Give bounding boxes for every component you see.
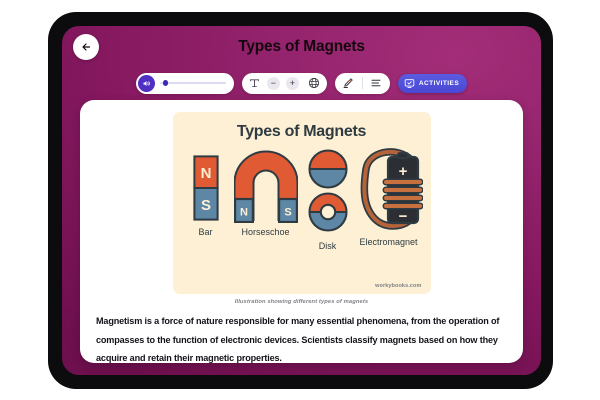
bar-magnet-figure: N S (193, 155, 219, 221)
highlighter-pen-icon[interactable] (342, 77, 355, 90)
app-bar: Types of Magnets (62, 26, 541, 70)
svg-text:N: N (200, 165, 211, 182)
tablet-device-frame: Types of Magnets (48, 12, 553, 389)
svg-text:N: N (240, 207, 248, 219)
volume-slider[interactable] (160, 78, 226, 89)
magnet-figures-row: N S Bar N S Horsescho (173, 141, 431, 265)
lesson-content-card: Types of Magnets N S Bar (80, 100, 523, 363)
text-format-icon[interactable] (248, 76, 261, 90)
svg-text:+: + (398, 163, 407, 180)
annotation-tool-group (335, 73, 390, 94)
figure-caption: Illustration showing different types of … (96, 299, 507, 305)
reader-toolbar: − + (62, 70, 541, 96)
lesson-body-text: Magnetism is a force of nature responsib… (96, 312, 507, 363)
activities-label: ACTIVITIES (419, 80, 459, 87)
decrease-text-size-button[interactable]: − (267, 77, 280, 90)
content-scroll-area[interactable]: Types of Magnets N S Bar (80, 100, 523, 363)
illustration-watermark: workybooks.com (375, 283, 421, 289)
speaker-button[interactable] (138, 75, 155, 92)
svg-text:S: S (284, 207, 291, 219)
magnet-label-disk: Disk (301, 241, 355, 251)
page-title: Types of Magnets (62, 38, 541, 56)
svg-text:−: − (398, 208, 407, 225)
list-lines-icon[interactable] (370, 77, 383, 90)
electromagnet-figure: + − (353, 145, 423, 235)
svg-text:S: S (200, 197, 210, 214)
illustration-title: Types of Magnets (173, 112, 431, 141)
monitor-check-icon (404, 78, 415, 89)
text-control-group: − + (242, 73, 327, 94)
toolbar-divider (362, 77, 363, 89)
magnet-label-horseshoe: Horseschoe (230, 227, 302, 237)
volume-slider-thumb[interactable] (163, 80, 169, 86)
activities-button[interactable]: ACTIVITIES (398, 74, 467, 93)
magnet-illustration-panel: Types of Magnets N S Bar (173, 112, 431, 294)
disk-magnet-figure (307, 149, 349, 233)
speaker-volume-icon (142, 79, 151, 88)
audio-control-group (136, 73, 234, 94)
volume-slider-track (160, 82, 226, 85)
magnet-label-bar: Bar (181, 227, 231, 237)
globe-language-icon[interactable] (308, 77, 321, 90)
horseshoe-magnet-figure: N S (234, 149, 298, 223)
increase-text-size-button[interactable]: + (286, 77, 299, 90)
magnet-label-electromagnet: Electromagnet (349, 237, 429, 247)
tablet-screen: Types of Magnets (62, 26, 541, 375)
